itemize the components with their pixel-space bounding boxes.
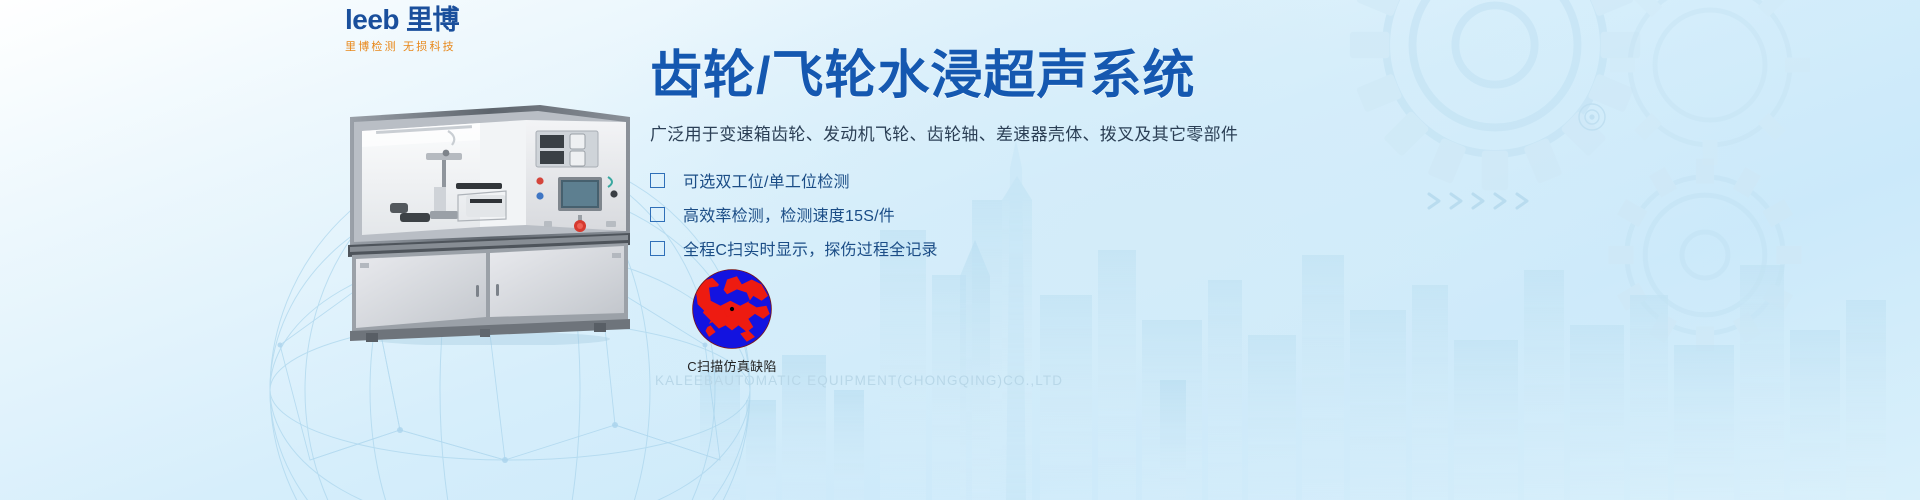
logo-tagline: 里博检测 无损科技 bbox=[345, 38, 545, 54]
logo-wordmark: leeb 里博 bbox=[345, 6, 545, 34]
checkbox-icon[interactable] bbox=[650, 173, 665, 188]
banner-content: 齿轮/飞轮水浸超声系统 广泛用于变速箱齿轮、发动机飞轮、齿轮轴、差速器壳体、拨叉… bbox=[650, 48, 1410, 265]
checkbox-icon[interactable] bbox=[650, 207, 665, 222]
cscan-defect-image bbox=[691, 268, 773, 350]
banner-subtitle: 广泛用于变速箱齿轮、发动机飞轮、齿轮轴、差速器壳体、拨叉及其它零部件 bbox=[650, 120, 1410, 145]
ultrasonic-machine-image bbox=[330, 95, 650, 345]
target-marker-icon bbox=[1575, 100, 1609, 139]
feature-label: 全程C扫实时显示，探伤过程全记录 bbox=[683, 236, 938, 260]
feature-item[interactable]: 高效率检测，检测速度15S/件 bbox=[650, 197, 1410, 231]
chevron-arrows-icon bbox=[1425, 190, 1545, 217]
brand-logo[interactable]: leeb 里博 里博检测 无损科技 bbox=[345, 6, 545, 50]
page-title: 齿轮/飞轮水浸超声系统 bbox=[650, 48, 1410, 104]
gear-outline-icon bbox=[1590, 140, 1820, 370]
feature-label: 高效率检测，检测速度15S/件 bbox=[683, 202, 895, 226]
feature-item[interactable]: 全程C扫实时显示，探伤过程全记录 bbox=[650, 231, 1410, 265]
feature-item[interactable]: 可选双工位/单工位检测 bbox=[650, 163, 1410, 197]
product-banner: leeb 里博 里博检测 无损科技 bbox=[0, 0, 1920, 500]
feature-label: 可选双工位/单工位检测 bbox=[683, 168, 850, 192]
checkbox-icon[interactable] bbox=[650, 241, 665, 256]
logo-chinese-text: 里博 bbox=[406, 7, 459, 34]
cscan-sample: C扫描仿真缺陷 bbox=[672, 268, 792, 375]
company-name: KALEEBAUTOMATIC EQUIPMENT(CHONGQING)CO.,… bbox=[655, 373, 1063, 388]
feature-list: 可选双工位/单工位检测 高效率检测，检测速度15S/件 全程C扫实时显示，探伤过… bbox=[650, 163, 1410, 265]
gear-outline-icon bbox=[1585, 0, 1835, 190]
logo-latin-text: leeb bbox=[345, 6, 399, 34]
